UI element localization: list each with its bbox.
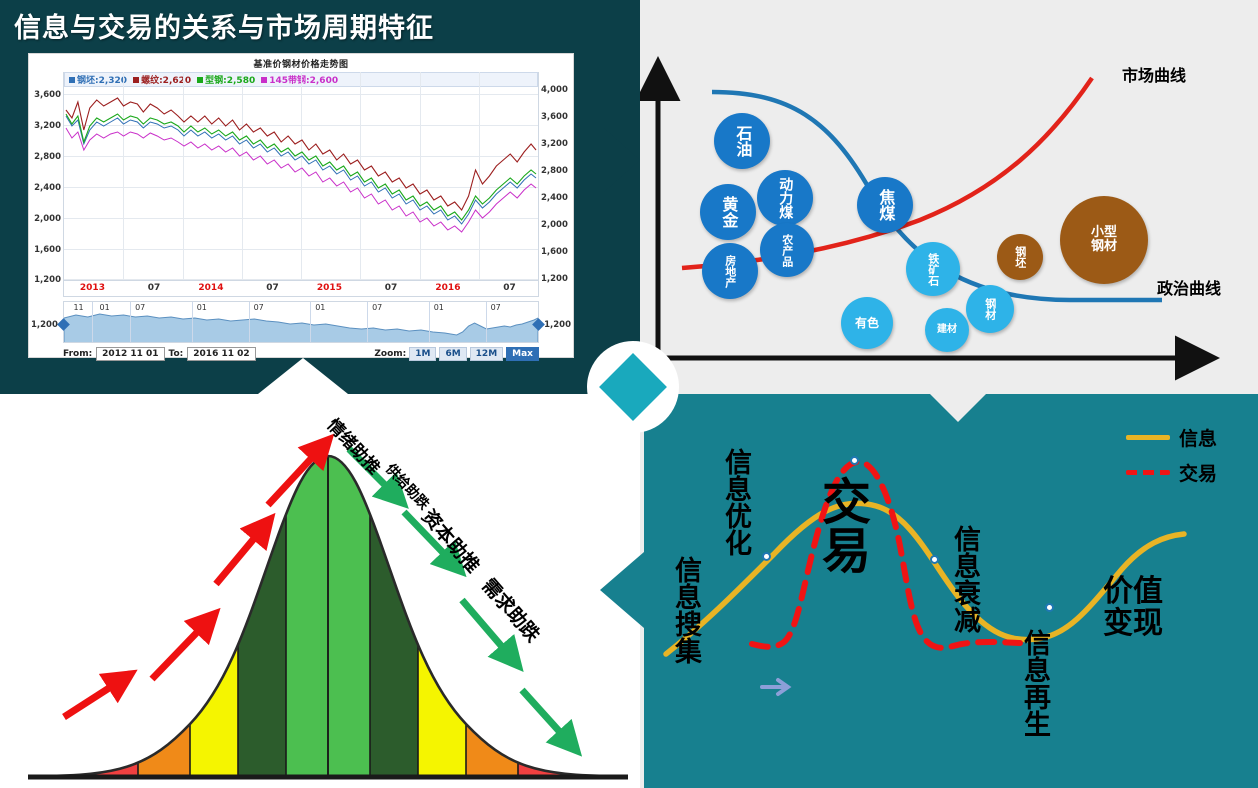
- bubble-label: 有色: [855, 317, 879, 329]
- y-axis-right-tick: 2,800: [541, 166, 571, 176]
- x-axis-tick: 07: [503, 283, 516, 293]
- series-line-gangpi: [66, 116, 536, 224]
- cycle-stage-jiazhibianxian: 价值变现: [1100, 576, 1166, 641]
- legend-label-trade: 交易: [1179, 459, 1217, 486]
- navigator-tick: 01: [434, 303, 444, 312]
- navigator-tick: 07: [491, 303, 501, 312]
- to-label: To:: [169, 349, 184, 359]
- marker-dot-2: [850, 456, 859, 465]
- chart-title: 基准价钢材价格走势图: [29, 54, 573, 70]
- y-axis-left-tick: 2,000: [31, 214, 61, 224]
- price-series-svg: [64, 72, 538, 280]
- y-axis-right-tick: 2,000: [541, 220, 571, 230]
- bubble-jiaomei[interactable]: 焦煤: [857, 177, 913, 233]
- zoom-button-max[interactable]: Max: [506, 347, 539, 361]
- y-axis-left-tick: 2,800: [31, 152, 61, 162]
- y-axis-right-tick: 2,400: [541, 193, 571, 203]
- cycle-stage-xinxiyouhua: 信息优化: [722, 448, 749, 556]
- marker-dot-4: [1045, 603, 1054, 612]
- navigator-tick: 07: [372, 303, 382, 312]
- y-axis-right-tick: 3,600: [541, 112, 571, 122]
- y-axis-left-tick: 1,600: [31, 245, 61, 255]
- x-axis-tick: 07: [385, 283, 398, 293]
- band-red-left: [30, 434, 138, 784]
- from-input[interactable]: 2012 11 01: [96, 347, 164, 361]
- band-darkgreen-left: [238, 434, 286, 784]
- bubble-nongchanpin[interactable]: 农产品: [760, 223, 814, 277]
- bell-curve-svg: [0, 394, 640, 788]
- zoom-button-12m[interactable]: 12M: [470, 347, 503, 361]
- bubble-jiancai[interactable]: 建材: [925, 308, 969, 352]
- bubble-gangcai[interactable]: 钢材: [966, 285, 1014, 333]
- bubble-donglimei[interactable]: 动力煤: [757, 170, 813, 226]
- bubble-label: 黄金: [720, 196, 737, 228]
- marker-dot-3: [930, 555, 939, 564]
- arrow-up-to-chart-icon: [258, 358, 348, 394]
- band-green-right: [328, 434, 370, 784]
- bubble-gangpi[interactable]: 钢坯: [997, 234, 1043, 280]
- x-axis-tick: 2015: [317, 283, 342, 293]
- band-yellow-left: [190, 434, 238, 784]
- bubble-label: 铁矿石: [927, 253, 938, 286]
- navigator-tick: 01: [315, 303, 325, 312]
- band-yellow-right: [418, 434, 466, 784]
- x-axis-right-edge-value: 1,200: [544, 320, 571, 330]
- bubble-label: 小型钢材: [1090, 226, 1119, 253]
- bubble-label: 石油: [734, 125, 751, 157]
- zoom-button-1m[interactable]: 1M: [409, 347, 436, 361]
- bubble-shiyou[interactable]: 石油: [714, 113, 770, 169]
- legend-line-trade-icon: [1126, 470, 1170, 475]
- chart-navigator-wrap[interactable]: 11 01 07 01 07 01 07 01 07: [63, 301, 539, 343]
- cycle-legend-trade[interactable]: 交易: [1126, 459, 1217, 486]
- x-axis-tick: 2013: [80, 283, 105, 293]
- page-title: 信息与交易的关系与市场周期特征: [14, 6, 434, 45]
- arrow-right-to-bubbles-icon: [604, 128, 640, 192]
- navigator-tick: 07: [135, 303, 145, 312]
- bubble-xiaoxinggangcai[interactable]: 小型钢材: [1060, 196, 1148, 284]
- chart-navigator[interactable]: 11 01 07 01 07 01 07 01 07: [63, 301, 539, 343]
- to-input[interactable]: 2016 11 02: [187, 347, 255, 361]
- small-arrow-icon: [762, 680, 788, 694]
- y-axis-right-tick: 3,200: [541, 139, 571, 149]
- bubble-label: 建材: [937, 325, 957, 335]
- y-axis-left-tick: 3,600: [31, 90, 61, 100]
- bubble-label: 动力煤: [778, 177, 793, 219]
- bubble-label: 焦煤: [877, 189, 894, 221]
- slide-root: 信息与交易的关系与市场周期特征 基准价钢材价格走势图 钢坯:2,320 螺纹:2…: [0, 0, 1258, 788]
- chart-x-axis: 2013 07 2014 07 2015 07 2016 07: [63, 280, 539, 297]
- price-chart-card: 基准价钢材价格走势图 钢坯:2,320 螺纹:2,620 型钢:2,580: [28, 53, 574, 358]
- zoom-label: Zoom:: [374, 349, 406, 359]
- bubble-label: 钢材: [984, 298, 995, 320]
- navigator-tick: 01: [100, 303, 110, 312]
- legend-label-info: 信息: [1179, 424, 1217, 451]
- series-line-145daigang: [66, 128, 536, 232]
- y-axis-left-tick: 1,200: [31, 275, 61, 285]
- band-red-right: [518, 434, 628, 784]
- bubble-huangjin[interactable]: 黄金: [700, 184, 756, 240]
- x-axis-tick: 07: [266, 283, 279, 293]
- cycle-stage-xinxizaisheng: 信息再生: [1021, 629, 1048, 737]
- from-label: From:: [63, 349, 92, 359]
- bubble-youse[interactable]: 有色: [841, 297, 893, 349]
- y-axis-left-tick: 3,200: [31, 121, 61, 131]
- political-curve-label: 政治曲线: [1157, 275, 1221, 299]
- x-axis-tick: 2014: [198, 283, 223, 293]
- x-axis-left-edge-value: 1,200: [31, 320, 58, 330]
- x-axis-tick: 2016: [435, 283, 460, 293]
- cycle-legend-info[interactable]: 信息: [1126, 424, 1217, 451]
- bell-bands: [30, 434, 628, 784]
- market-curve-label: 市场曲线: [1122, 62, 1186, 86]
- navigator-tick: 07: [254, 303, 264, 312]
- series-line-luowen: [66, 98, 536, 210]
- cycle-stage-jiazhibianxian-text: 价值变现: [1103, 574, 1163, 641]
- bubble-label: 钢坯: [1014, 246, 1025, 268]
- y-axis-left-tick: 2,400: [31, 183, 61, 193]
- series-line-xinggang: [66, 114, 536, 220]
- bubble-fangdichan[interactable]: 房地产: [702, 243, 758, 299]
- navigator-tick: 11: [73, 303, 83, 312]
- band-green-left: [286, 434, 328, 784]
- y-axis-right-tick: 1,600: [541, 247, 571, 257]
- legend-line-info-icon: [1126, 435, 1170, 440]
- navigator-tick: 01: [197, 303, 207, 312]
- y-axis-right-tick: 1,200: [541, 274, 571, 284]
- cycle-stage-xinxisouji: 信息搜集: [672, 556, 699, 664]
- bubble-label: 农产品: [781, 234, 792, 267]
- cycle-stage-jiaoyi: 交易: [818, 476, 867, 574]
- x-axis-tick: 07: [148, 283, 161, 293]
- cycle-stage-xinxishuaijian: 信息衰减: [951, 525, 978, 633]
- marker-dot-1: [762, 552, 771, 561]
- bubble-label: 房地产: [724, 255, 735, 288]
- y-axis-right-tick: 4,000: [541, 85, 571, 95]
- chart-plot-area: 钢坯:2,320 螺纹:2,620 型钢:2,580 145带钢:2,600: [63, 72, 539, 280]
- bubble-tiekuangshi[interactable]: 铁矿石: [906, 242, 960, 296]
- zoom-button-6m[interactable]: 6M: [439, 347, 466, 361]
